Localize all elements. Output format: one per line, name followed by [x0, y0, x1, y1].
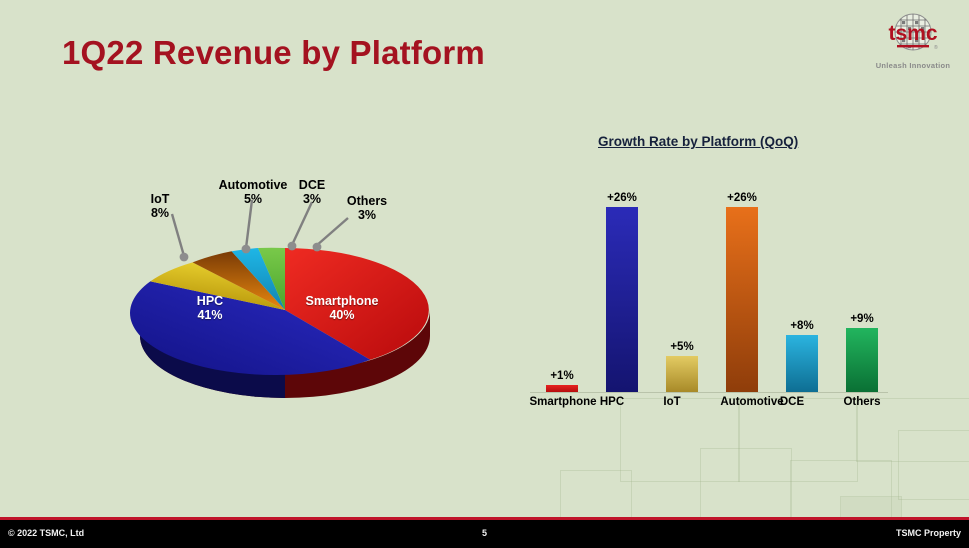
- watermark-block: [560, 470, 632, 522]
- page-title: 1Q22 Revenue by Platform: [62, 34, 485, 72]
- bar-value-dce: +8%: [790, 320, 813, 332]
- pie-label-smartphone-value: 40%: [288, 308, 396, 322]
- pie-callout-dce: DCE 3%: [286, 178, 338, 206]
- revenue-pie-chart: IoT 8% Automotive 5% DCE 3% Others 3% HP…: [120, 150, 450, 420]
- bar-category-dce: DCE: [762, 396, 822, 408]
- svg-text:®: ®: [934, 44, 938, 51]
- watermark-block: [700, 448, 792, 522]
- bar-column-iot: +5%: [662, 341, 702, 392]
- pie-label-smartphone-name: Smartphone: [288, 294, 396, 308]
- svg-text:tsmc: tsmc: [888, 22, 937, 45]
- bar-rect-automotive: [726, 207, 758, 392]
- bar-category-hpc: HPC: [582, 396, 642, 408]
- bar-category-others: Others: [816, 396, 908, 408]
- pie-callout-iot-label: IoT: [132, 192, 188, 206]
- slide-canvas: 1Q22 Revenue by Platform: [0, 0, 969, 548]
- bar-rect-iot: [666, 356, 698, 392]
- tsmc-logo-icon: tsmc ®: [871, 12, 955, 58]
- slide-footer: © 2022 TSMC, Ltd 5 TSMC Property: [0, 517, 969, 548]
- bar-column-dce: +8%: [782, 320, 822, 392]
- bar-axis-line: [530, 392, 888, 393]
- pie-label-smartphone: Smartphone 40%: [288, 294, 396, 323]
- bar-value-iot: +5%: [670, 341, 693, 353]
- bar-column-others: +9%: [842, 313, 882, 392]
- pie-callout-others-value: 3%: [338, 208, 396, 222]
- pie-callout-iot-value: 8%: [132, 206, 188, 220]
- pie-label-hpc-name: HPC: [172, 294, 248, 308]
- bar-column-smartphone: +1%: [542, 370, 582, 392]
- pie-leader-lines: [172, 200, 348, 256]
- bar-value-hpc: +26%: [607, 192, 637, 204]
- footer-page-number: 5: [0, 528, 969, 538]
- pie-label-hpc-value: 41%: [172, 308, 248, 322]
- bar-rect-others: [846, 328, 878, 392]
- tsmc-tagline: Unleash Innovation: [865, 61, 961, 70]
- pie-callout-dce-label: DCE: [286, 178, 338, 192]
- bar-value-smartphone: +1%: [550, 370, 573, 382]
- growth-rate-bar-chart: Growth Rate by Platform (QoQ) +1% +26% +…: [520, 128, 920, 428]
- bar-value-automotive: +26%: [727, 192, 757, 204]
- bar-chart-title: Growth Rate by Platform (QoQ): [598, 134, 798, 149]
- bar-value-others: +9%: [850, 313, 873, 325]
- bar-column-hpc: +26%: [602, 192, 642, 392]
- bar-column-automotive: +26%: [722, 192, 762, 392]
- pie-callout-others: Others 3%: [338, 194, 396, 222]
- bar-rect-smartphone: [546, 385, 578, 392]
- tsmc-logo: tsmc ® Unleash Innovation: [865, 12, 961, 70]
- pie-label-hpc: HPC 41%: [172, 294, 248, 323]
- watermark-block: [790, 460, 892, 520]
- pie-callout-others-label: Others: [338, 194, 396, 208]
- bar-plot-area: +1% +26% +5% +26% +8% +9%: [530, 188, 890, 393]
- pie-callout-iot: IoT 8%: [132, 192, 188, 220]
- bar-rect-hpc: [606, 207, 638, 392]
- footer-property: TSMC Property: [896, 528, 961, 538]
- pie-callout-dce-value: 3%: [286, 192, 338, 206]
- bar-rect-dce: [786, 335, 818, 392]
- watermark-block: [898, 430, 969, 500]
